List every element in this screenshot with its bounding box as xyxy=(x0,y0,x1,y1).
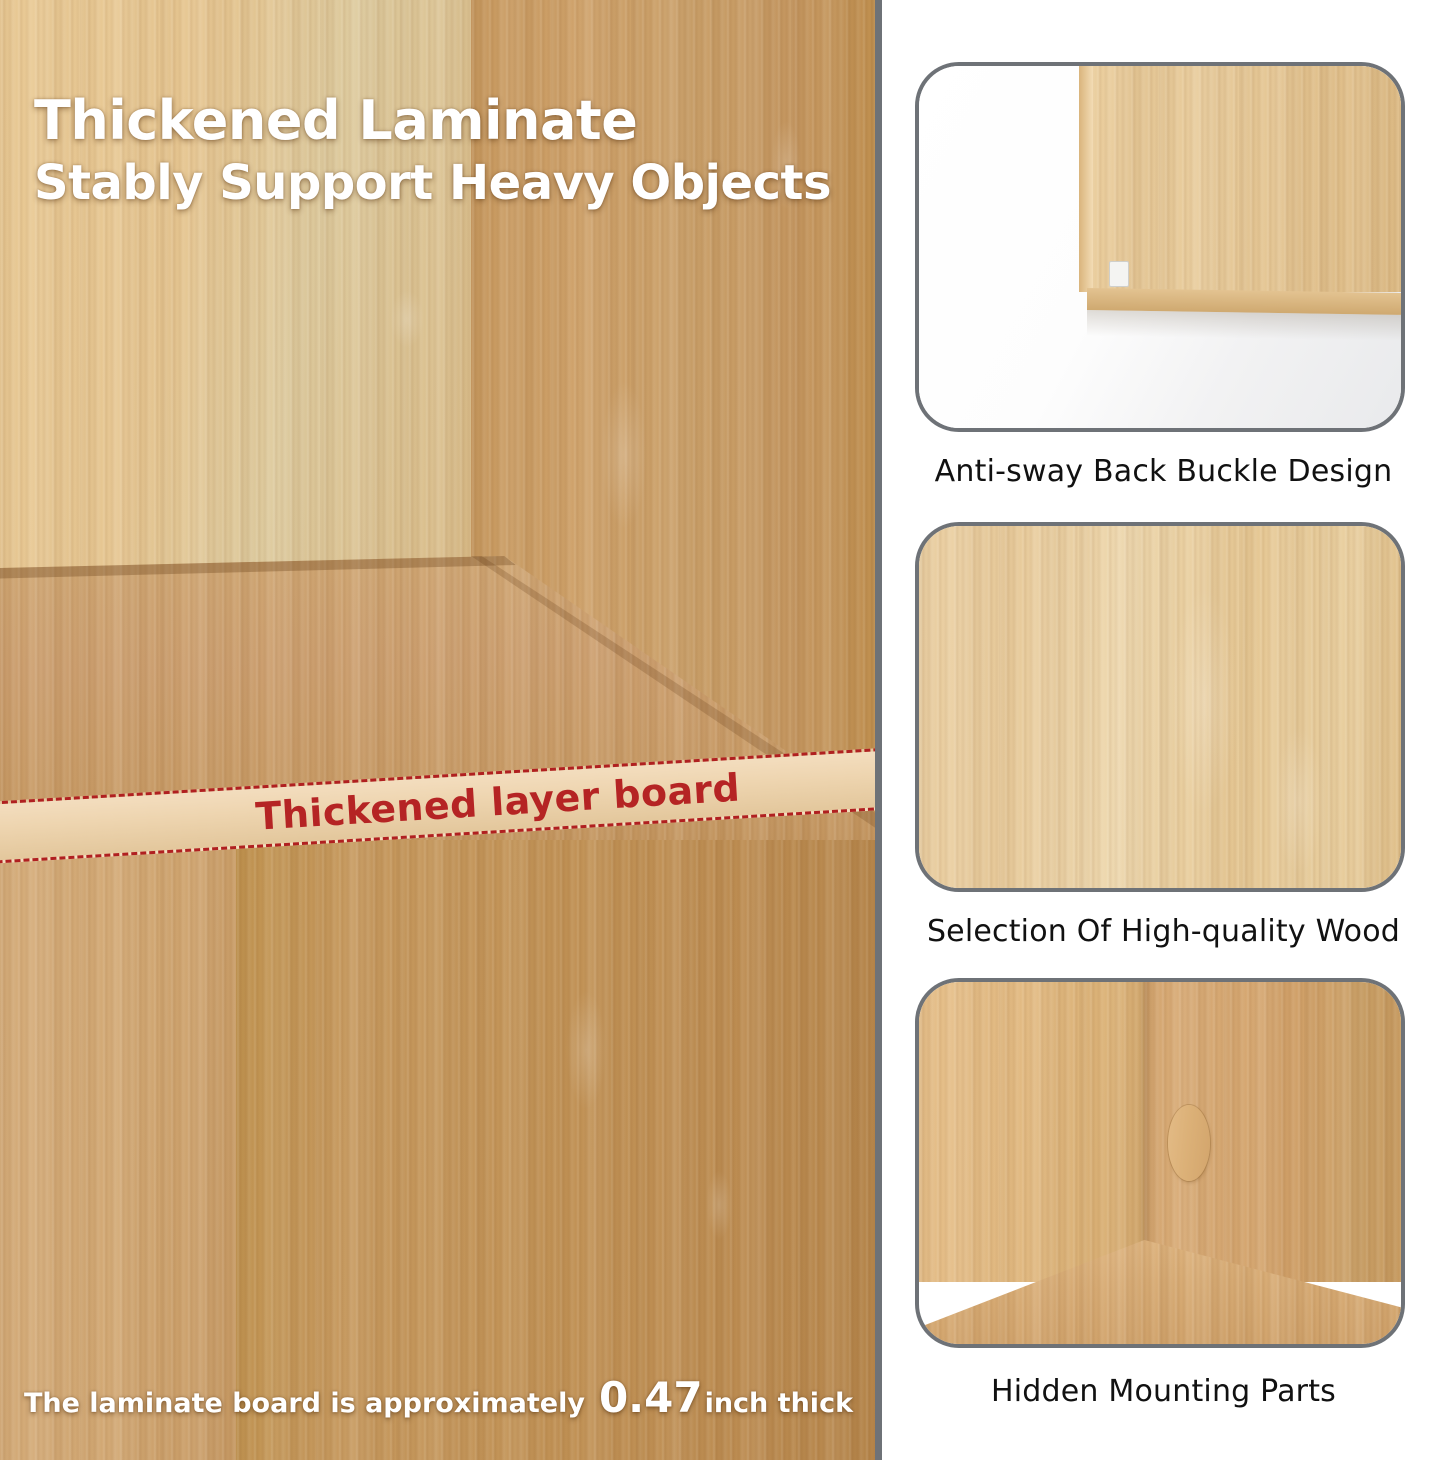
feature-caption: Anti-sway Back Buckle Design xyxy=(882,454,1445,489)
wood-knot xyxy=(566,990,606,1110)
wood-grain-texture xyxy=(1079,66,1405,292)
wood-knot xyxy=(706,1170,732,1240)
board-left-edge xyxy=(1079,66,1093,292)
feature-caption: Selection Of High-quality Wood xyxy=(882,914,1445,949)
lower-compartment xyxy=(0,840,877,1460)
page-title: Thickened Laminate Stably Support Heavy … xyxy=(34,92,854,212)
feature-caption: Hidden Mounting Parts xyxy=(882,1374,1445,1409)
wood-knot xyxy=(1274,726,1324,876)
wood-swatch xyxy=(919,526,1401,888)
lower-back-panel xyxy=(236,840,877,1460)
callout-label: Thickened layer board xyxy=(0,748,877,864)
feature-item-high-quality-wood: Selection Of High-quality Wood xyxy=(882,522,1445,949)
wood-grain-texture xyxy=(919,526,1401,888)
panel-divider xyxy=(875,0,882,1460)
feature-item-hidden-mounting: Hidden Mounting Parts xyxy=(882,978,1445,1409)
thickness-caption: The laminate board is approximately 0.47… xyxy=(0,1373,877,1422)
wood-knot xyxy=(1169,586,1239,816)
feature-item-back-buckle: Anti-sway Back Buckle Design xyxy=(882,62,1445,489)
anti-sway-bracket xyxy=(1109,261,1129,287)
headline-line-2: Stably Support Heavy Objects xyxy=(34,156,854,211)
wood-knot xyxy=(390,290,424,348)
headline-line-1: Thickened Laminate xyxy=(34,92,854,150)
wood-grain-texture xyxy=(0,840,236,1460)
back-buckle-photo xyxy=(915,62,1405,432)
board-drop-shadow xyxy=(1087,310,1405,341)
mounting-cap-photo xyxy=(915,978,1405,1348)
thickness-caption-text: The laminate board is approximately xyxy=(24,1388,585,1419)
wood-knot xyxy=(601,380,647,530)
mounting-cover-cap xyxy=(1168,1105,1210,1181)
wood-back-board xyxy=(1079,66,1405,292)
wood-grain-texture xyxy=(919,982,1144,1282)
lower-side-panel xyxy=(0,840,236,1460)
feature-list: Anti-sway Back Buckle Design Selection O… xyxy=(882,0,1445,1460)
wood-grain-photo xyxy=(915,522,1405,892)
thickness-value: 0.47 xyxy=(599,1373,703,1422)
cube-corner-shadow xyxy=(1137,982,1153,1282)
hero-shelf-photo: Thickened layer board Thickened Laminate… xyxy=(0,0,877,1460)
cube-left-wall xyxy=(919,982,1144,1282)
wood-grain-texture xyxy=(236,840,877,1460)
thickness-unit: inch thick xyxy=(705,1388,853,1419)
product-feature-infographic: Thickened layer board Thickened Laminate… xyxy=(0,0,1445,1460)
